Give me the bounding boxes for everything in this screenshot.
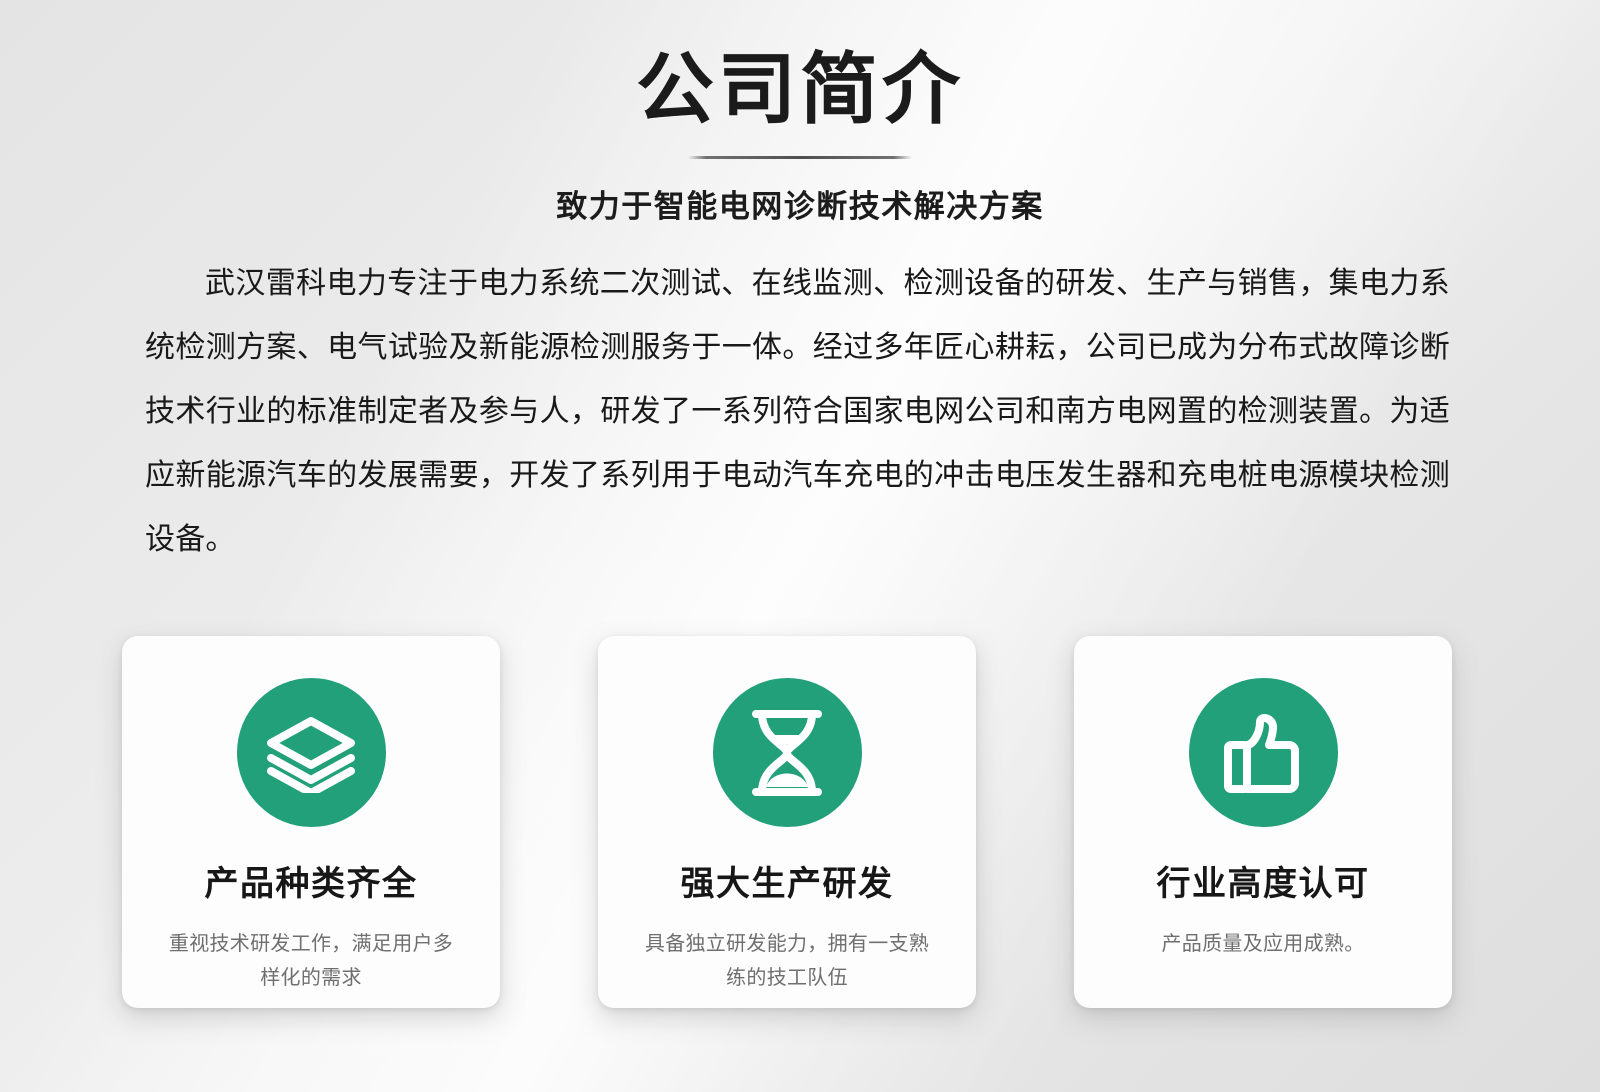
company-intro-section: 武汉雷科电力专注于电力系统二次测试、在线监测、检测设备的研发、生产与销售，集电力…: [145, 252, 1450, 572]
feature-card-title: 行业高度认可: [1157, 863, 1370, 905]
layers-icon: [237, 678, 386, 827]
feature-card-description: 重视技术研发工作，满足用户多样化的需求: [161, 927, 461, 995]
company-intro-page: 公司简介 致力于智能电网诊断技术解决方案 武汉雷科电力专注于电力系统二次测试、在…: [0, 0, 1600, 1092]
feature-card-industry-recognition[interactable]: 行业高度认可 产品质量及应用成熟。: [1074, 636, 1452, 1008]
feature-card-description: 产品质量及应用成熟。: [1113, 927, 1413, 961]
thumbs-up-icon: [1189, 678, 1338, 827]
page-title: 公司简介: [0, 44, 1600, 134]
feature-card-production-rd[interactable]: 强大生产研发 具备独立研发能力，拥有一支熟练的技工队伍: [598, 636, 976, 1008]
page-subtitle: 致力于智能电网诊断技术解决方案: [0, 187, 1600, 227]
feature-card-description: 具备独立研发能力，拥有一支熟练的技工队伍: [637, 927, 937, 995]
hourglass-icon: [713, 678, 862, 827]
feature-card-product-variety[interactable]: 产品种类齐全 重视技术研发工作，满足用户多样化的需求: [122, 636, 500, 1008]
title-divider-icon: [688, 156, 912, 159]
feature-card-title: 产品种类齐全: [205, 863, 418, 905]
company-intro-paragraph: 武汉雷科电力专注于电力系统二次测试、在线监测、检测设备的研发、生产与销售，集电力…: [145, 252, 1450, 572]
feature-card-title: 强大生产研发: [681, 863, 894, 905]
feature-card-list: 产品种类齐全 重视技术研发工作，满足用户多样化的需求 强大生产研发 具备独立: [122, 636, 1452, 1008]
page-header: 公司简介 致力于智能电网诊断技术解决方案: [0, 44, 1600, 227]
